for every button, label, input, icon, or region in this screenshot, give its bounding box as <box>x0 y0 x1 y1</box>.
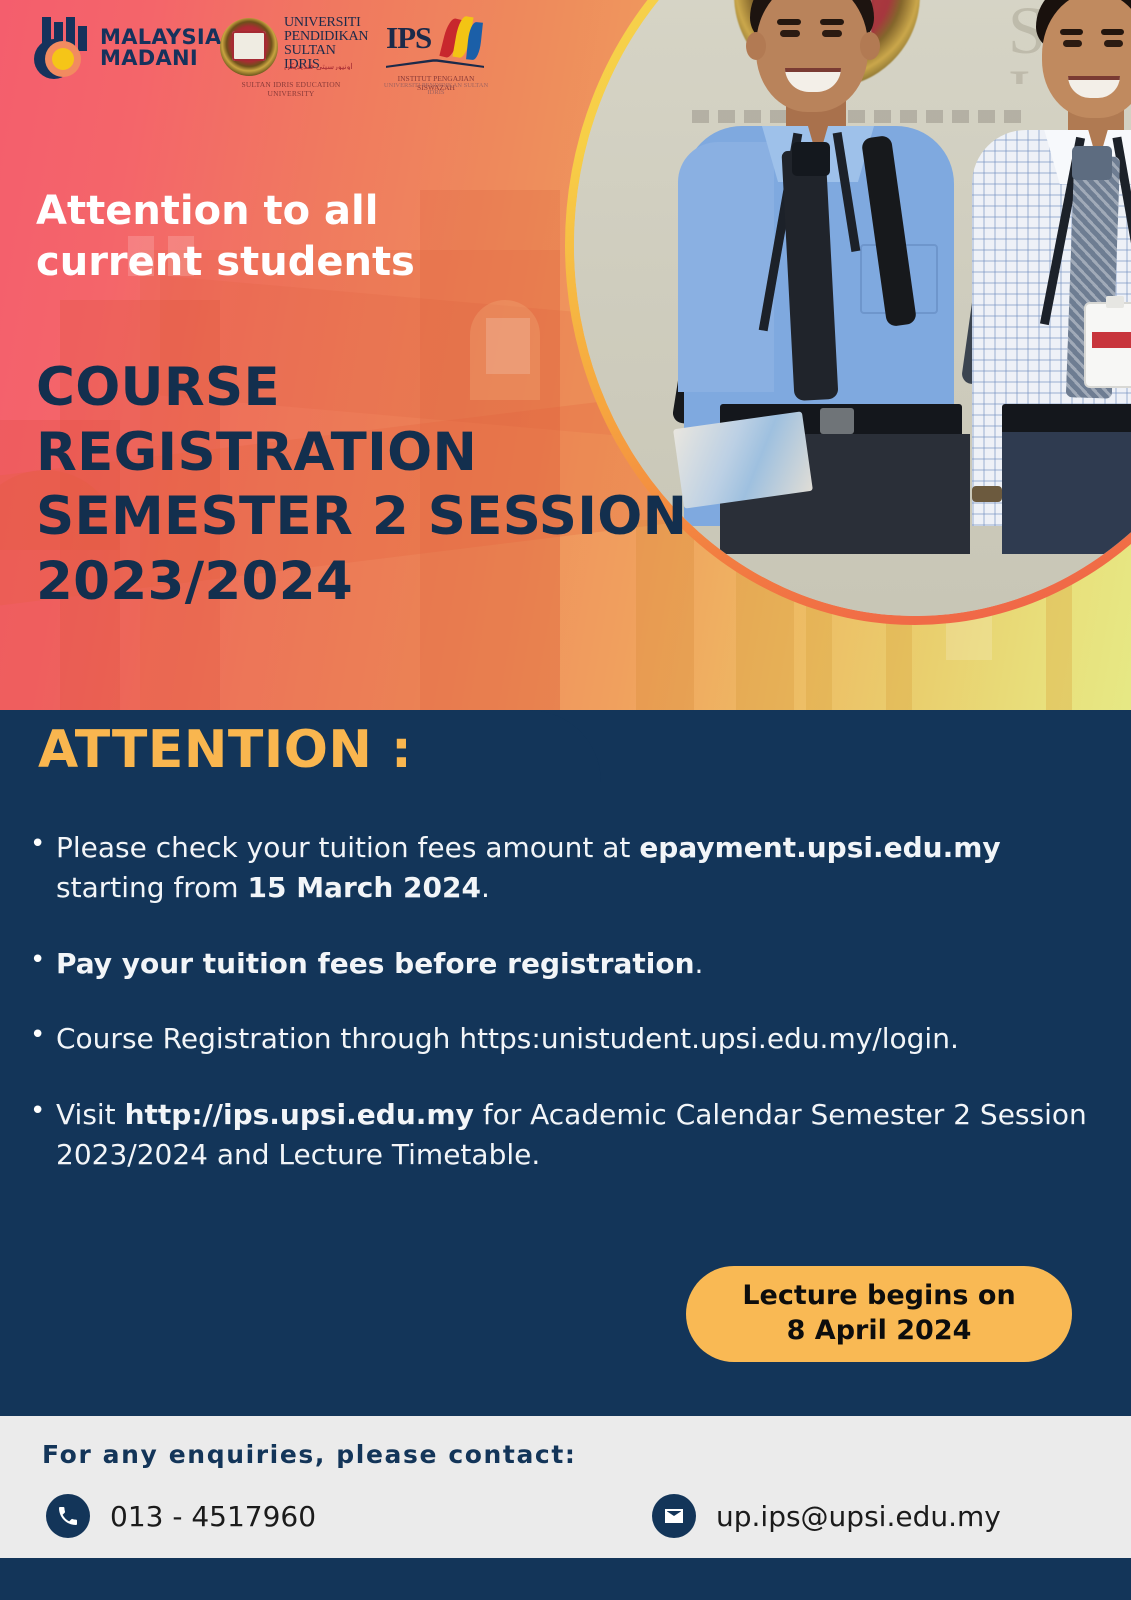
phone-icon <box>46 1494 90 1538</box>
upsi-seal-icon <box>220 18 278 76</box>
bullet-run: . <box>695 947 704 980</box>
student2-brow <box>1060 29 1083 35</box>
page-title: COURSE REGISTRATION SEMESTER 2 SESSION 2… <box>36 356 736 615</box>
bullet-emphasis: http://ips.upsi.edu.my <box>125 1098 474 1131</box>
malaysia-madani-logo: MALAYSIA MADANI <box>34 16 222 80</box>
student1-tie-knot <box>792 142 830 176</box>
mail-icon <box>652 1494 696 1538</box>
upsi-jawi-script: اونيورسيتي فنديديكن <box>284 62 364 70</box>
poster: MALAYSIA MADANI UNIVERSITI PENDIDIKAN SU… <box>0 0 1131 1600</box>
student1-eye <box>780 30 800 37</box>
student2-id-card <box>1086 304 1131 386</box>
student1-ear <box>860 32 880 60</box>
student2-brow <box>1101 29 1124 35</box>
bullet-dot: • <box>30 944 56 978</box>
bullet-emphasis: Pay your tuition fees before registratio… <box>56 947 695 980</box>
mm-line1: MALAYSIA <box>100 27 222 48</box>
mm-line2: MADANI <box>100 48 222 69</box>
badge-line2: 8 April 2024 <box>787 1314 972 1349</box>
upsi-logo: UNIVERSITI PENDIDIKAN SULTAN IDRIS اونيو… <box>218 10 364 94</box>
footer-title: For any enquiries, please contact: <box>42 1440 577 1469</box>
attention-bullet: •Pay your tuition fees before registrati… <box>30 944 1105 984</box>
bullet-text: Course Registration through https:unistu… <box>56 1019 1105 1059</box>
wristwatch <box>972 486 1002 502</box>
student2-trousers <box>1002 432 1131 554</box>
bullet-run: . <box>481 871 490 904</box>
attention-bullet: •Course Registration through https:unist… <box>30 1019 1105 1059</box>
ips-subtitle-line2: UNIVERSITI PENDIDIKAN SULTAN IDRIS <box>382 82 490 96</box>
bullet-text: Please check your tuition fees amount at… <box>56 828 1105 908</box>
student2-eye <box>1104 40 1123 47</box>
wall-caption-strip <box>692 110 1022 123</box>
bullet-run: starting from <box>56 871 247 904</box>
ips-acronym: IPS <box>386 20 431 56</box>
upsi-subtitle: SULTAN IDRIS EDUCATION UNIVERSITY <box>218 80 364 98</box>
student2-tie-knot <box>1072 146 1112 180</box>
student2-eye <box>1063 40 1082 47</box>
contact-email[interactable]: up.ips@upsi.edu.my <box>652 1494 1001 1538</box>
attention-bullet-list: •Please check your tuition fees amount a… <box>30 828 1105 1211</box>
bullet-run: Visit <box>56 1098 125 1131</box>
student1-brow <box>777 19 801 25</box>
upsi-line1: UNIVERSITI <box>284 16 364 30</box>
hero-kicker: Attention to all current students <box>36 186 556 288</box>
malaysia-madani-icon <box>34 17 92 79</box>
student1-shoulder <box>678 142 774 392</box>
bottom-bar <box>0 1558 1131 1600</box>
bullet-text: Visit http://ips.upsi.edu.my for Academi… <box>56 1095 1105 1175</box>
contact-phone[interactable]: 013 - 4517960 <box>46 1494 316 1538</box>
bullet-emphasis: 15 March 2024 <box>247 871 481 904</box>
bullet-run: Please check your tuition fees amount at <box>56 831 639 864</box>
student1-eye <box>822 30 842 37</box>
lecture-start-badge: Lecture begins on 8 April 2024 <box>686 1266 1072 1362</box>
bullet-run: Course Registration through https:unistu… <box>56 1022 959 1055</box>
phone-number: 013 - 4517960 <box>110 1500 316 1533</box>
student1-buckle <box>820 408 854 434</box>
bullet-dot: • <box>30 828 56 862</box>
student2-face <box>1042 0 1131 118</box>
student1-brow <box>820 19 844 25</box>
bullet-emphasis: epayment.upsi.edu.my <box>639 831 1000 864</box>
attention-bullet: •Visit http://ips.upsi.edu.my for Academ… <box>30 1095 1105 1175</box>
logo-bar: MALAYSIA MADANI UNIVERSITI PENDIDIKAN SU… <box>0 0 560 100</box>
contact-footer: For any enquiries, please contact: 013 -… <box>0 1416 1131 1558</box>
attention-bullet: •Please check your tuition fees amount a… <box>30 828 1105 908</box>
bullet-dot: • <box>30 1095 56 1129</box>
student1-ear <box>746 32 766 60</box>
attention-heading: ATTENTION : <box>38 720 412 780</box>
badge-line1: Lecture begins on <box>742 1279 1015 1314</box>
student1-face <box>756 0 868 112</box>
upsi-line2: PENDIDIKAN <box>284 30 364 44</box>
bullet-text: Pay your tuition fees before registratio… <box>56 944 1105 984</box>
ips-logo: IPS INSTITUT PENGAJIAN SISWAZAH UNIVERSI… <box>382 12 490 90</box>
malaysia-madani-wordmark: MALAYSIA MADANI <box>100 27 222 70</box>
bullet-dot: • <box>30 1019 56 1053</box>
email-address: up.ips@upsi.edu.my <box>716 1500 1001 1533</box>
